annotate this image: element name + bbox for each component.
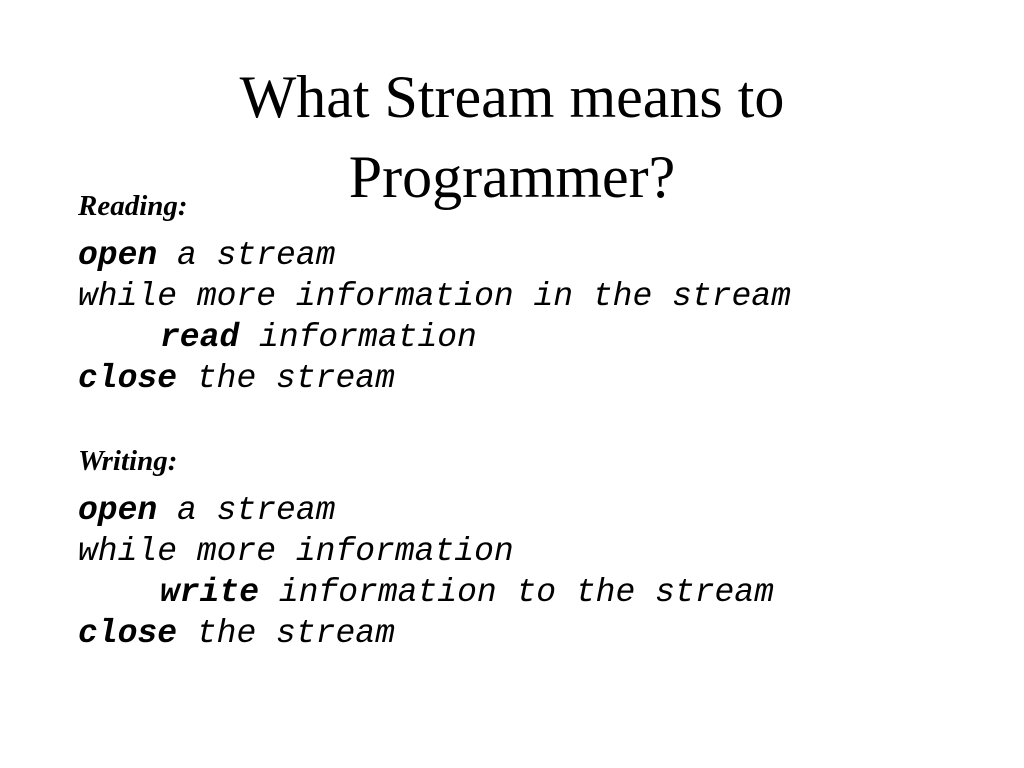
section-reading: Reading: open a stream while more inform… — [78, 192, 978, 399]
code-text: the stream — [177, 615, 395, 652]
code-line: open a stream — [78, 490, 978, 531]
code-keyword: write — [160, 574, 259, 611]
code-line: open a stream — [78, 235, 978, 276]
code-keyword: open — [78, 237, 157, 274]
code-text: while more information — [78, 533, 514, 570]
code-text: a stream — [157, 237, 335, 274]
code-line: close the stream — [78, 613, 978, 654]
section-heading-reading: Reading: — [78, 192, 978, 221]
section-writing: Writing: open a stream while more inform… — [78, 447, 978, 654]
title-line-1: What Stream means to — [0, 58, 1024, 138]
code-line: write information to the stream — [78, 572, 978, 613]
section-heading-writing: Writing: — [78, 447, 978, 476]
code-line: while more information — [78, 531, 978, 572]
code-text: information to the stream — [259, 574, 774, 611]
code-keyword: open — [78, 492, 157, 529]
code-line: close the stream — [78, 358, 978, 399]
code-keyword: close — [78, 615, 177, 652]
presentation-slide: What Stream means to Programmer? Reading… — [0, 0, 1024, 768]
code-text: while more information in the stream — [78, 278, 791, 315]
code-text: information — [239, 319, 477, 356]
section-divider-space — [78, 399, 978, 447]
code-keyword: close — [78, 360, 177, 397]
slide-body: Reading: open a stream while more inform… — [78, 192, 978, 654]
code-text: the stream — [177, 360, 395, 397]
code-line: while more information in the stream — [78, 276, 978, 317]
code-keyword: read — [160, 319, 239, 356]
code-text: a stream — [157, 492, 335, 529]
code-line: read information — [78, 317, 978, 358]
